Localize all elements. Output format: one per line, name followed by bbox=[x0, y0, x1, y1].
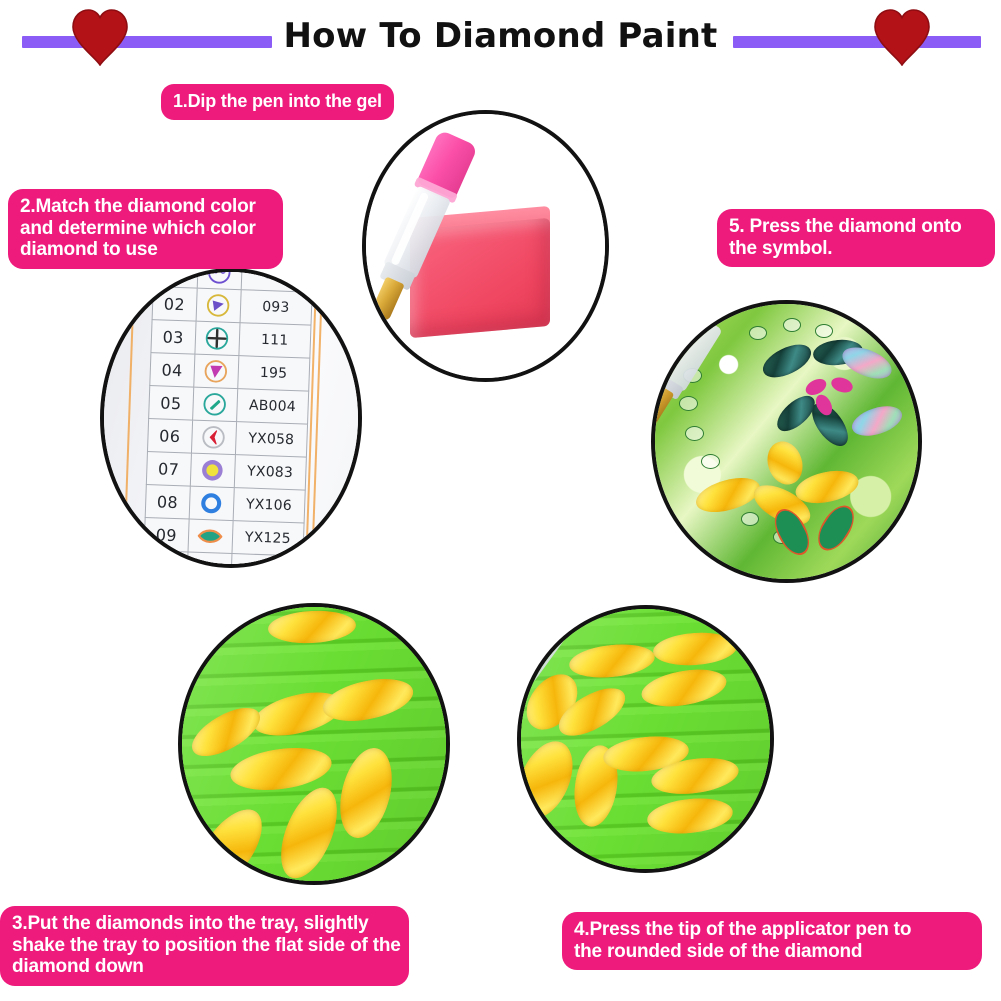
step-2-label: 2.Match the diamond colorand determine w… bbox=[8, 189, 283, 269]
color-chart-photo: 0102802093031110419505AB00406YX05807YX08… bbox=[100, 268, 362, 568]
chart-row-symbol bbox=[186, 552, 231, 568]
symbol-wrapper bbox=[196, 290, 240, 321]
chart-row-symbol bbox=[192, 387, 237, 422]
canvas-symbol bbox=[685, 426, 704, 441]
photo-background: 0102802093031110419505AB00406YX05807YX08… bbox=[104, 272, 358, 564]
chart-row-code: 111 bbox=[238, 323, 311, 358]
chart-row-number: 08 bbox=[145, 485, 190, 520]
symbol-wrapper bbox=[193, 389, 237, 420]
table-row: 09YX125 bbox=[144, 517, 304, 556]
chart-row-symbol bbox=[189, 486, 234, 521]
step-5-label: 5. Press the diamond ontothe symbol. bbox=[717, 209, 995, 267]
chart-row-code: YX106 bbox=[233, 488, 306, 523]
placing-diamond-on-canvas-photo bbox=[651, 300, 922, 583]
chart-row-symbol bbox=[196, 288, 241, 323]
pen-dipping-into-gel-photo bbox=[362, 110, 609, 382]
leaf-icon bbox=[196, 522, 225, 551]
capsule-icon bbox=[200, 390, 229, 419]
chart-row-code: 028 bbox=[241, 268, 314, 292]
step-label-line: 3.Put the diamonds into the tray, slight… bbox=[12, 913, 397, 935]
canvas-symbol bbox=[701, 454, 720, 469]
chart-row-symbol bbox=[197, 268, 242, 290]
table-row: 06YX058 bbox=[147, 419, 307, 458]
step-label-line: the rounded side of the diamond bbox=[574, 941, 970, 963]
symbol-wrapper bbox=[192, 422, 236, 453]
chart-row-number: 02 bbox=[152, 287, 197, 322]
chart-row-code: YX083 bbox=[234, 455, 307, 490]
step-label-line: diamond down bbox=[12, 956, 397, 978]
canvas-leaf-symbol bbox=[811, 499, 861, 556]
step-1-label: 1.Dip the pen into the gel bbox=[161, 84, 394, 120]
triangle-icon bbox=[204, 291, 233, 320]
photo-background bbox=[182, 607, 446, 881]
diamond-being-placed bbox=[762, 437, 808, 489]
table-row: 03111 bbox=[151, 320, 311, 359]
pen-tip bbox=[651, 385, 674, 439]
canvas-symbol bbox=[741, 512, 759, 526]
table-row: 07YX083 bbox=[146, 452, 306, 491]
chart-row-symbol bbox=[190, 453, 235, 488]
chart-row-code: AB004 bbox=[236, 389, 309, 424]
chart-row-code: YX125 bbox=[232, 521, 305, 556]
chart-row-number: 09 bbox=[144, 517, 189, 552]
chart-row-symbol bbox=[191, 420, 236, 455]
symbol-wrapper bbox=[195, 323, 239, 354]
center-petal bbox=[829, 375, 854, 395]
table-row: 08YX106 bbox=[145, 485, 305, 524]
step-label-line: 5. Press the diamond onto bbox=[729, 216, 983, 238]
double-dot-circle-icon bbox=[205, 268, 234, 287]
plus-icon bbox=[203, 324, 232, 353]
chart-row-number bbox=[143, 550, 188, 568]
symbol-wrapper bbox=[197, 268, 241, 288]
chart-row-number: 01 bbox=[153, 268, 198, 288]
photo-background bbox=[655, 304, 918, 579]
diamond-gem bbox=[758, 338, 816, 384]
chart-row-code bbox=[230, 554, 303, 568]
step-3-label: 3.Put the diamonds into the tray, slight… bbox=[0, 906, 409, 986]
flag-triangle-icon bbox=[201, 357, 230, 386]
canvas-symbol bbox=[815, 324, 833, 338]
diamond-gem bbox=[848, 401, 905, 442]
leaf-icon bbox=[194, 555, 223, 568]
symbol-wrapper bbox=[187, 554, 231, 568]
table-row: 05AB004 bbox=[149, 386, 309, 425]
header: How To Diamond Paint bbox=[0, 0, 1001, 72]
photo-background bbox=[366, 114, 605, 378]
step-label-line: diamond to use bbox=[20, 239, 271, 261]
diamonds-in-tray-photo bbox=[178, 603, 450, 885]
step-label-line: 1.Dip the pen into the gel bbox=[173, 91, 382, 112]
chart-row-code: 093 bbox=[240, 290, 313, 325]
page-title: How To Diamond Paint bbox=[0, 16, 1001, 56]
step-4-label: 4.Press the tip of the applicator pen to… bbox=[562, 912, 982, 970]
photo-background bbox=[521, 609, 770, 869]
symbol-wrapper bbox=[189, 488, 233, 519]
symbol-wrapper bbox=[188, 521, 232, 552]
step-label-line: shake the tray to position the flat side… bbox=[12, 935, 397, 957]
ring-icon bbox=[197, 489, 226, 518]
chart-row-number: 07 bbox=[146, 452, 191, 487]
diamond-color-chart-table: 0102802093031110419505AB00406YX05807YX08… bbox=[142, 268, 313, 568]
infographic-canvas: How To Diamond Paint bbox=[0, 0, 1001, 1001]
chart-row-symbol bbox=[193, 354, 238, 389]
chart-row-symbol bbox=[188, 519, 233, 554]
chart-row-symbol bbox=[194, 321, 239, 356]
step-label-line: and determine which color bbox=[20, 218, 271, 240]
canvas-symbol bbox=[783, 318, 801, 332]
chart-row-number: 03 bbox=[151, 320, 196, 355]
step-label-line: 4.Press the tip of the applicator pen to bbox=[574, 919, 970, 941]
chart-paper: 0102802093031110419505AB00406YX05807YX08… bbox=[136, 268, 330, 568]
chart-row-number: 04 bbox=[150, 353, 195, 388]
symbol-wrapper bbox=[190, 455, 234, 486]
chart-row-code: YX058 bbox=[235, 422, 308, 457]
symbol-wrapper bbox=[194, 356, 238, 387]
pen-pressing-diamond-photo bbox=[517, 605, 774, 873]
chart-row-number: 06 bbox=[147, 419, 192, 454]
filled-dot-icon bbox=[198, 456, 227, 485]
step-label-line: the symbol. bbox=[729, 238, 983, 260]
step-label-line: 2.Match the diamond color bbox=[20, 196, 271, 218]
chart-row-number: 05 bbox=[149, 386, 194, 421]
chart-row-code: 195 bbox=[237, 356, 310, 391]
chevron-left-icon bbox=[199, 423, 228, 452]
table-row: 02093 bbox=[152, 287, 312, 326]
chart-guide-line bbox=[122, 268, 136, 568]
table-row: 04195 bbox=[150, 353, 310, 392]
canvas-symbol bbox=[749, 326, 767, 340]
